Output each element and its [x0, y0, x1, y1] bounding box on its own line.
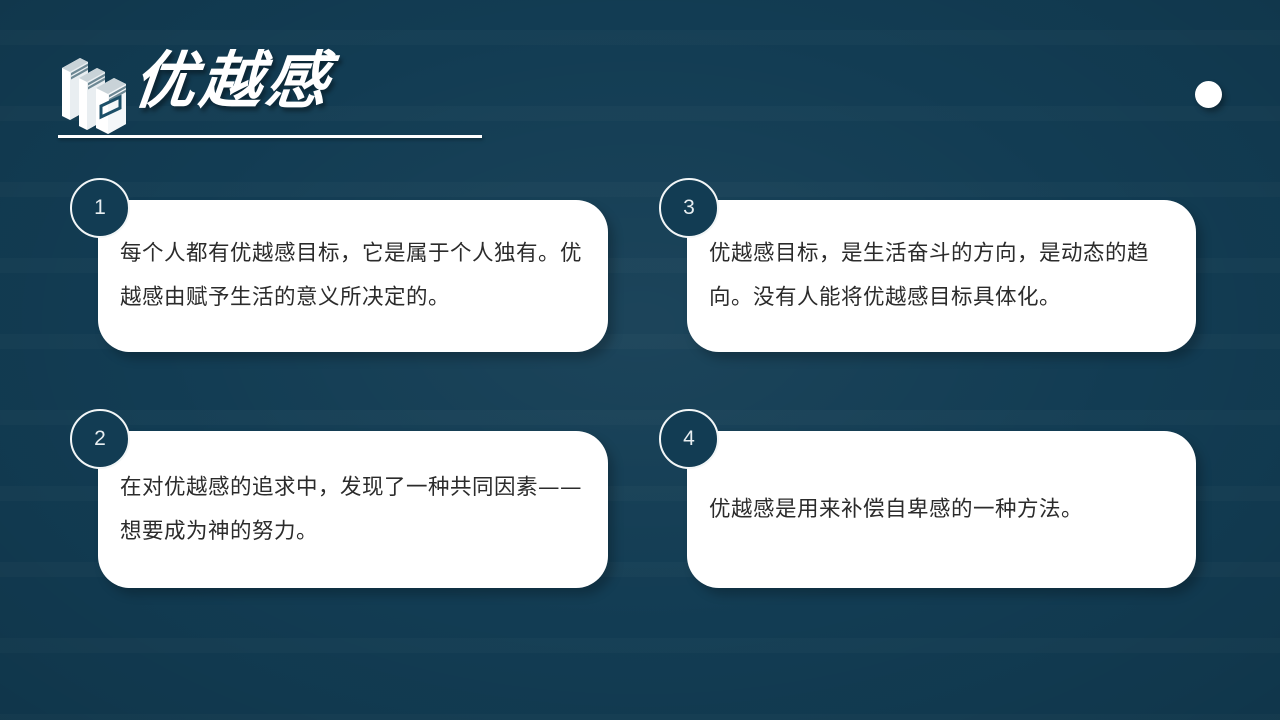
card-number-badge-4: 4: [659, 409, 719, 469]
card-body-4: 优越感是用来补偿自卑感的一种方法。: [687, 431, 1196, 588]
title-underline: [58, 135, 482, 138]
card-text-3: 优越感目标，是生活奋斗的方向，是动态的趋向。没有人能将优越感目标具体化。: [687, 232, 1196, 320]
card-text-1: 每个人都有优越感目标，它是属于个人独有。优越感由赋予生活的意义所决定的。: [98, 232, 608, 320]
stacked-books-icon: [58, 52, 136, 136]
card-number-badge-1: 1: [70, 178, 130, 238]
page-title: 优越感: [129, 38, 336, 124]
card-body-3: 优越感目标，是生活奋斗的方向，是动态的趋向。没有人能将优越感目标具体化。: [687, 200, 1196, 352]
card-body-2: 在对优越感的追求中，发现了一种共同因素——想要成为神的努力。: [98, 431, 608, 588]
card-body-1: 每个人都有优越感目标，它是属于个人独有。优越感由赋予生活的意义所决定的。: [98, 200, 608, 352]
card-text-2: 在对优越感的追求中，发现了一种共同因素——想要成为神的努力。: [98, 466, 608, 554]
card-number-badge-2: 2: [70, 409, 130, 469]
card-number-badge-3: 3: [659, 178, 719, 238]
slide-canvas: 优越感 每个人都有优越感目标，它是属于个人独有。优越感由赋予生活的意义所决定的。…: [0, 0, 1280, 720]
circle-dot-decoration: [1195, 81, 1222, 108]
card-text-4: 优越感是用来补偿自卑感的一种方法。: [687, 488, 1196, 532]
